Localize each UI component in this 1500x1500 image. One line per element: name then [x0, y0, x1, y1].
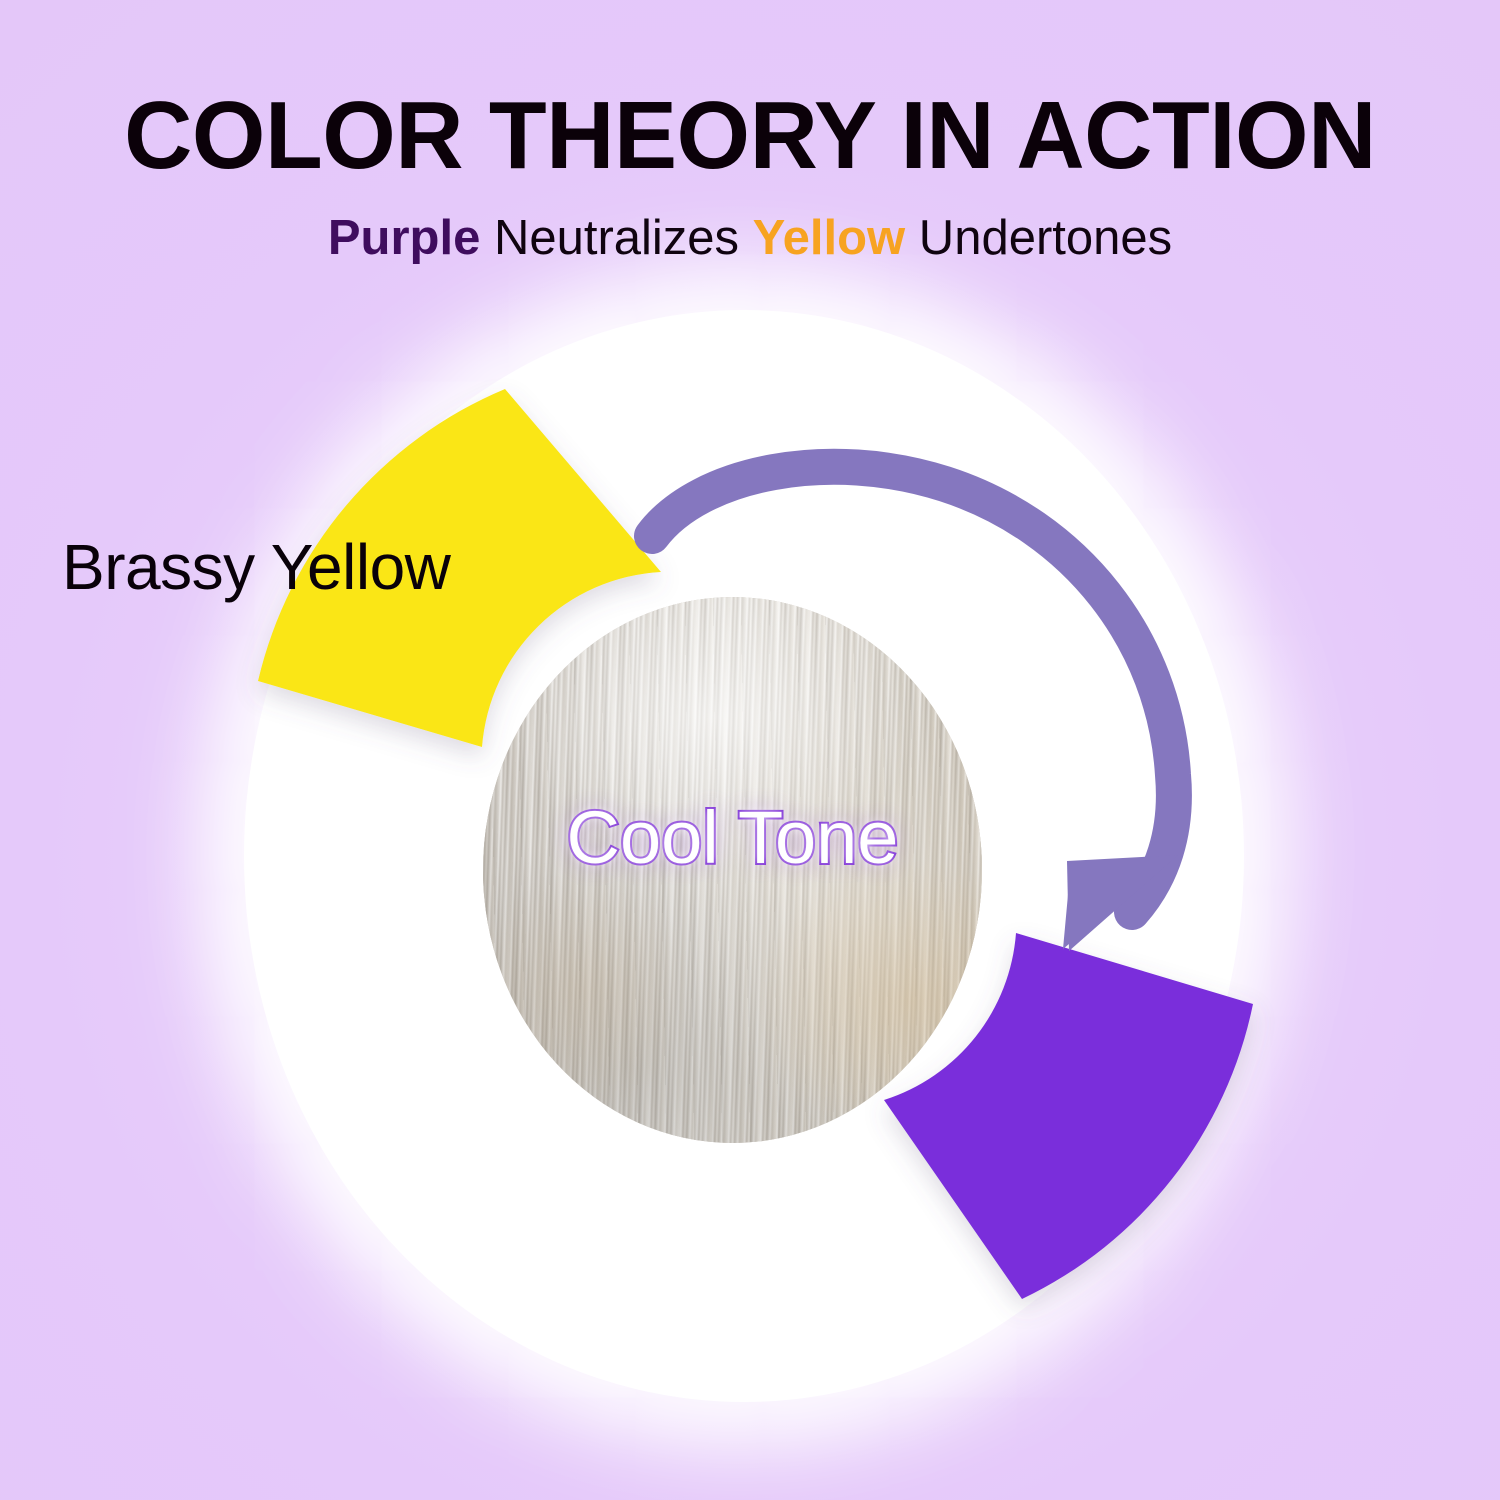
infographic-poster: Cool Tone Brassy Yellow COLOR THEORY IN … [0, 0, 1500, 1500]
cool-tone-label: Cool Tone [483, 795, 982, 880]
page-title: COLOR THEORY IN ACTION [11, 0, 1489, 184]
subtitle-word-yellow: Yellow [753, 211, 906, 265]
heading-block: COLOR THEORY IN ACTION Purple Neutralize… [0, 0, 1500, 263]
brassy-yellow-label: Brassy Yellow [62, 530, 450, 604]
page-subtitle: Purple Neutralizes Yellow Undertones [0, 184, 1500, 263]
subtitle-word-purple: Purple [328, 211, 480, 265]
subtitle-word-neutralizes: Neutralizes [480, 211, 752, 265]
subtitle-word-undertones: Undertones [905, 211, 1172, 265]
